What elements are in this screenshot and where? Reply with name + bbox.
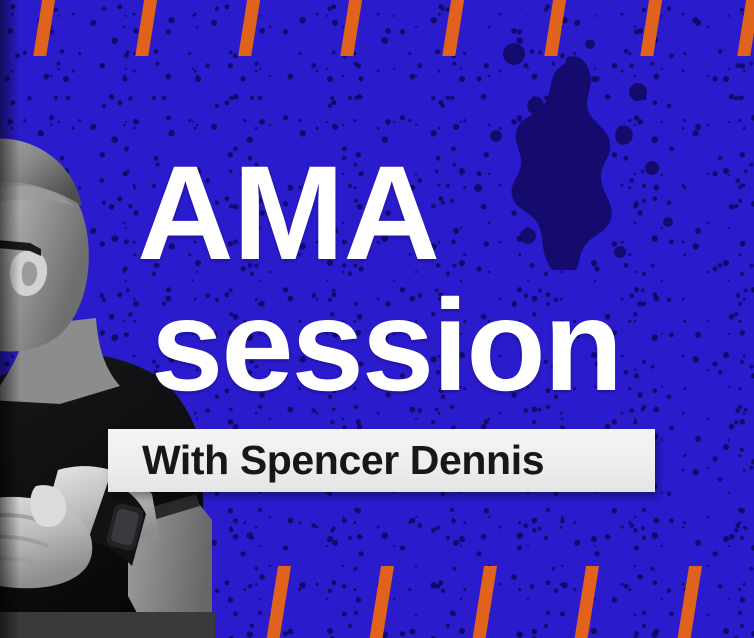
headline-line-ama: AMA <box>137 152 697 277</box>
subtitle-text: With Spencer Dennis <box>142 437 544 484</box>
subtitle-banner: With Spencer Dennis <box>108 429 655 492</box>
headline-group: AMA session <box>137 152 697 406</box>
ama-session-title-card: AMA session With Spencer Dennis <box>0 0 754 638</box>
headline-line-session: session <box>151 285 697 406</box>
